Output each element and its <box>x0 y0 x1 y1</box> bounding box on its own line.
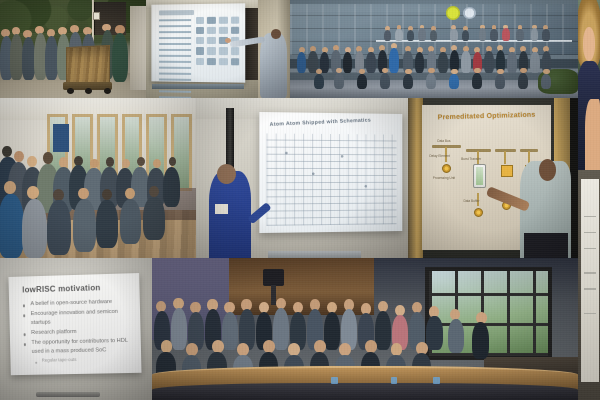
outdoor-scene <box>0 0 146 98</box>
data-buffer-gear-icon <box>474 208 483 217</box>
projection-screen: Atom Atom Shipped with Schematics <box>259 112 402 233</box>
face <box>583 27 595 61</box>
slide-title: Premeditated Optimizations <box>422 111 551 122</box>
screen-ledge <box>152 84 244 89</box>
schematic-nodes <box>271 138 391 218</box>
trolley-wheel <box>104 88 111 94</box>
theatre-scene <box>152 258 578 400</box>
diagram-label: Burst Transfer <box>461 157 481 161</box>
schematics-scene: Atom Atom Shipped with Schematics <box>196 98 408 263</box>
slide-title: Atom Atom Shipped with Schematics <box>269 116 396 128</box>
whiteboard-scene <box>578 170 600 400</box>
glass-building-scene <box>290 0 578 98</box>
slide-bullet: Encourage innovation and semicon startup… <box>23 308 130 329</box>
outdoor-group-photo <box>0 0 146 98</box>
whiteboard-writing-line <box>584 248 596 249</box>
slide-bullet: The opportunity for contributors to HDL … <box>24 337 131 357</box>
diagram-label: Delay Element <box>429 154 450 158</box>
arm <box>585 99 600 170</box>
lecture-room-scene <box>146 0 290 98</box>
processing-unit-gear-icon <box>442 164 451 173</box>
slide-sub-bullet: Regular tape-outs <box>24 356 130 365</box>
speaker-head <box>539 159 556 180</box>
screen-stand <box>36 392 100 398</box>
presenter-body <box>260 33 287 98</box>
presentation-slide-photo <box>146 0 290 98</box>
attendee-portrait <box>578 0 600 170</box>
optimizations-scene: Premeditated Optimizations Data Bus Dela… <box>408 98 578 263</box>
seated-audience <box>0 98 196 258</box>
diagram-label: Processing Unit <box>433 176 455 180</box>
schematics-talk-photo: Atom Atom Shipped with Schematics <box>196 98 408 263</box>
whiteboard-writing-line <box>584 272 596 273</box>
diagram-label: Data Bus <box>437 139 450 143</box>
projection-screen: lowRISC motivation A belief in open-sour… <box>9 273 142 376</box>
speaker-badge <box>215 204 228 214</box>
theatre-group-photo <box>152 258 578 400</box>
device-icon <box>473 164 486 188</box>
lowrisc-slide-scene: lowRISC motivation A belief in open-sour… <box>0 258 152 400</box>
whiteboard-writing-line <box>584 288 596 289</box>
slide-title-block <box>159 10 194 15</box>
whiteboard-strip-photo <box>578 170 600 400</box>
chip-icon <box>501 165 513 177</box>
slide-title: lowRISC motivation <box>22 283 128 295</box>
speaker-body <box>209 171 251 263</box>
whiteboard <box>581 179 599 381</box>
diagram-label: Data Buffer <box>463 199 479 203</box>
audience-scene <box>0 98 196 258</box>
stem-third <box>504 151 506 164</box>
water-bottle <box>331 377 338 384</box>
lowrisc-slide-photo: lowRISC motivation A belief in open-sour… <box>0 258 152 400</box>
desk-shadow-row <box>152 383 578 400</box>
optimizations-talk-photo: Premeditated Optimizations Data Bus Dela… <box>408 98 578 263</box>
slide-bullet-list: A belief in open-source hardware Encoura… <box>23 298 131 365</box>
photo-collage: Atom Atom Shipped with Schematics Premed… <box>0 0 600 400</box>
whiteboard-writing-line <box>584 216 596 217</box>
whiteboard-writing-line <box>584 313 596 314</box>
wooden-sculpture <box>66 45 110 86</box>
water-bottle <box>433 377 440 384</box>
whiteboard-writing-line <box>584 232 596 233</box>
water-bottle <box>391 377 398 384</box>
conference-group-photo <box>290 0 578 98</box>
speaker-head <box>217 164 236 184</box>
audience-photo <box>0 98 196 258</box>
crouching-crowd <box>290 0 578 98</box>
trolley-wheel <box>85 88 92 94</box>
attendee-closeup-photo <box>578 0 600 170</box>
